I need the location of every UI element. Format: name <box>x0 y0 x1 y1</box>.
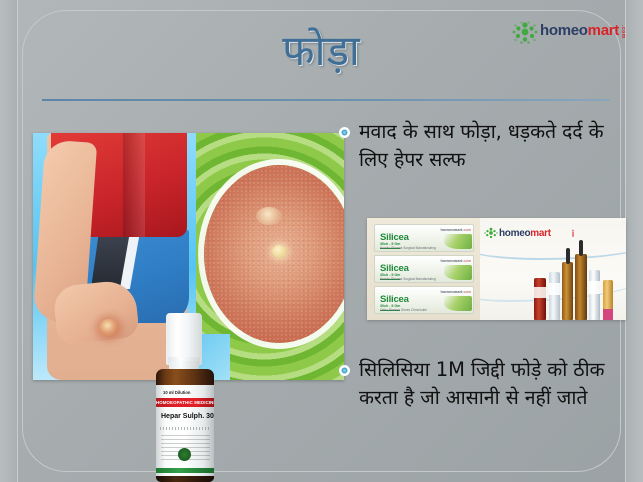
bottle-label-rule <box>160 427 210 430</box>
boil-closeup-photo <box>196 133 344 380</box>
tube-leaf-graphic <box>444 265 472 280</box>
bullet-text-1: मवाद के साथ फोड़ा, धड़कते दर्द के लिए हे… <box>359 118 631 174</box>
target-bullet-icon <box>339 365 350 376</box>
banner-tld: .com <box>571 229 575 237</box>
boil-pus-head <box>272 245 287 258</box>
tube-fineprint: Homeo Pharma Surgical Manufacturing <box>380 246 451 250</box>
thigh-boil-spot <box>99 319 119 337</box>
banner-wordmark: homeomart <box>499 228 551 240</box>
tube-brand-tld: .com <box>462 258 471 263</box>
mini-bottle-clear <box>549 272 560 320</box>
bottle-volume-text: 10 ml Dilution <box>163 390 210 396</box>
banner-bottle-group <box>534 246 620 320</box>
bottle-green-band <box>156 468 214 473</box>
bottle-label: 10 ml Dilution HOMOEOPATHIC MEDICINE Hep… <box>156 385 214 477</box>
silicea-tube: homeomart.com Silicea 30ch - 5 Gm Ortho … <box>374 286 474 314</box>
banner-word-homeo: homeo <box>499 228 530 239</box>
mini-bottle-gold <box>603 280 613 320</box>
inflamed-skin-shape <box>204 165 344 343</box>
tube-brand-tld: .com <box>462 227 471 232</box>
hand-shape <box>52 279 140 345</box>
banner-word-mart: mart <box>530 228 550 239</box>
mini-bottle-label <box>589 281 600 294</box>
mini-bottle-pink-cap <box>603 309 613 320</box>
boil-swelling-highlight <box>256 207 282 225</box>
slide-canvas: homeomart .com फोड़ा <box>0 0 643 482</box>
bottle-product-name: Hepar Sulph. 30 <box>161 412 211 422</box>
bottle-maker-logo-icon <box>178 448 191 461</box>
silicea-tube: homeomart.com Silicea 30ch - 5 Gm Homeo … <box>374 224 474 252</box>
tube-brand-homeo: homeomart <box>441 227 463 232</box>
shirt-fold <box>123 133 145 237</box>
mini-bottle-white <box>589 270 600 320</box>
tube-leaf-graphic <box>444 234 472 249</box>
bullet-item-2: सिलिसिया 1M जिद्दी फोड़े को ठीक करता है … <box>339 356 631 412</box>
tube-fineprint: Homeo Pharma Surgical Manufacturing <box>380 277 451 281</box>
tube-brand-homeo: homeomart <box>441 258 463 263</box>
dropper-cap-icon <box>566 248 570 264</box>
silicea-tube-box: homeomart.com Silicea 30ch - 5 Gm Homeo … <box>367 218 481 320</box>
bottle-category-band: HOMOEOPATHIC MEDICINE <box>156 398 214 407</box>
bottle-category-text: HOMOEOPATHIC MEDICINE <box>156 398 214 407</box>
bottle-base <box>156 476 214 482</box>
page-title: फोड़ा <box>0 25 643 77</box>
banner-logo-dots-icon <box>484 227 498 240</box>
mini-bottle-red <box>534 278 546 320</box>
tube-brand-homeo: homeomart <box>441 289 463 294</box>
mini-bottle-label <box>534 287 546 298</box>
mini-bottle-amber-large <box>575 254 587 320</box>
bullet-text-2: सिलिसिया 1M जिद्दी फोड़े को ठीक करता है … <box>359 356 631 412</box>
mini-bottle-label <box>549 283 560 295</box>
title-divider <box>42 99 610 101</box>
target-bullet-icon <box>339 127 350 138</box>
dropper-cap-icon <box>579 240 583 256</box>
tube-leaf-graphic <box>444 296 472 311</box>
silicea-product-photo: homeomart.com Silicea 30ch - 5 Gm Homeo … <box>367 218 626 320</box>
bullet-item-1: मवाद के साथ फोड़ा, धड़कते दर्द के लिए हे… <box>339 118 631 174</box>
tube-fineprint: Ortho Pharma Stores Chincholee <box>380 308 451 312</box>
tube-brand-tld: .com <box>462 289 471 294</box>
bottle-cap <box>166 313 202 365</box>
hepar-sulph-bottle: 10 ml Dilution HOMOEOPATHIC MEDICINE Hep… <box>152 313 218 482</box>
bottle-body: 10 ml Dilution HOMOEOPATHIC MEDICINE Hep… <box>156 369 214 482</box>
silicea-tube: homeomart.com Silicea 30ch - 5 Gm Homeo … <box>374 255 474 283</box>
mini-bottle-amber-small <box>562 262 573 320</box>
homeomart-banner: homeomart .com <box>480 218 626 320</box>
